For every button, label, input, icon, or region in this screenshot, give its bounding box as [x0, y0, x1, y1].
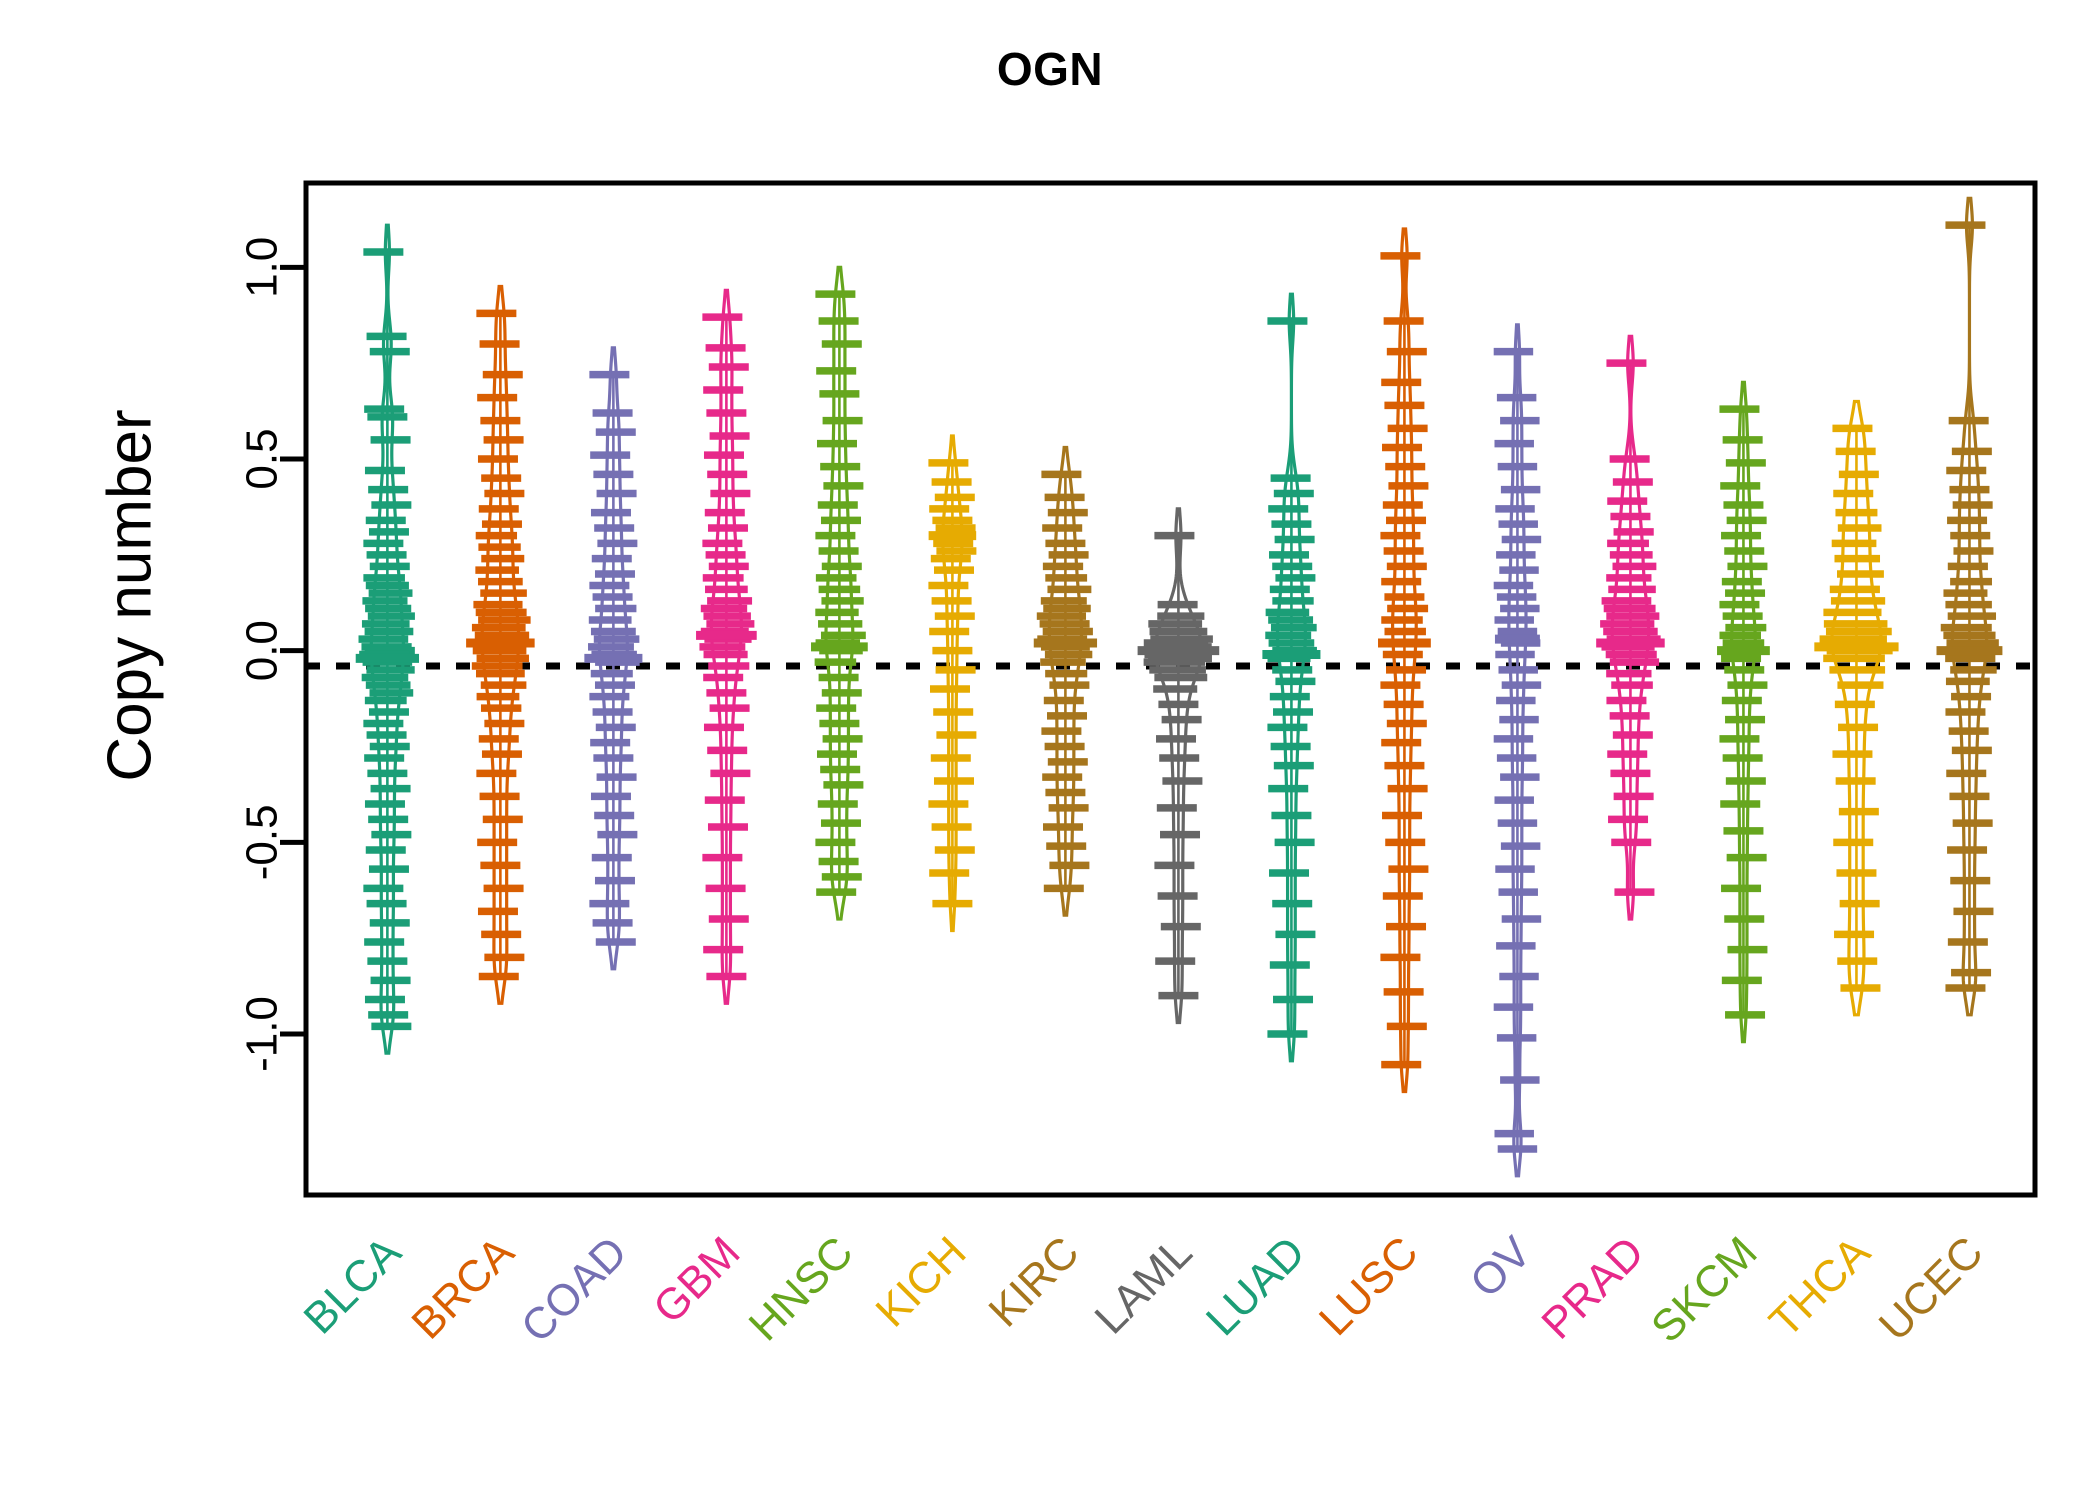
bean-group-COAD — [584, 348, 642, 969]
bean-group-LUAD — [1262, 294, 1320, 1061]
bean-group-OV — [1494, 325, 1541, 1176]
x-tick-label-PRAD: PRAD — [1532, 1227, 1653, 1348]
bean-group-HNSC — [811, 267, 868, 919]
y-tick-label: 0.0 — [238, 620, 287, 681]
bean-group-GBM — [696, 290, 757, 1003]
bean-group-BRCA — [466, 287, 535, 1004]
bean-group-UCEC — [1937, 198, 2003, 1015]
x-tick-label-LUSC: LUSC — [1310, 1227, 1428, 1345]
bean-group-SKCM — [1717, 382, 1770, 1041]
x-tick-label-COAD: COAD — [512, 1227, 637, 1352]
x-tick-label-GBM: GBM — [644, 1227, 750, 1333]
y-tick-label: 1.0 — [238, 237, 287, 298]
bean-group-LAML — [1138, 509, 1220, 1023]
x-tick-label-UCEC: UCEC — [1870, 1227, 1993, 1350]
chart-root: OGN Copy number 1.00.50.0-0.5-1.0 BLCABR… — [0, 0, 2100, 1500]
bean-group-PRAD — [1596, 336, 1665, 919]
beanplot-canvas: 1.00.50.0-0.5-1.0 BLCABRCACOADGBMHNSCKIC… — [0, 0, 2100, 1500]
x-tick-label-SKCM: SKCM — [1642, 1227, 1767, 1352]
x-tick-label-HNSC: HNSC — [740, 1227, 863, 1350]
bean-group-THCA — [1814, 402, 1898, 1015]
bean-group-LUSC — [1378, 229, 1431, 1092]
x-tick-label-BLCA: BLCA — [295, 1227, 411, 1343]
x-tick-label-BRCA: BRCA — [402, 1227, 524, 1349]
bean-group-KIRC — [1034, 448, 1097, 916]
y-tick-label: -1.0 — [238, 996, 287, 1072]
x-tick-label-LUAD: LUAD — [1197, 1227, 1315, 1345]
data-layer — [356, 198, 2003, 1175]
axis-layer: 1.00.50.0-0.5-1.0 — [238, 183, 2036, 1195]
bean-group-BLCA — [356, 225, 419, 1053]
x-tick-label-KIRC: KIRC — [980, 1227, 1089, 1336]
x-axis-labels: BLCABRCACOADGBMHNSCKICHKIRCLAMLLUADLUSCO… — [295, 1227, 1993, 1352]
bean-group-KICH — [928, 436, 976, 931]
y-tick-label: -0.5 — [238, 804, 287, 880]
x-tick-label-KICH: KICH — [867, 1227, 976, 1336]
x-tick-label-THCA: THCA — [1760, 1227, 1880, 1347]
x-tick-label-OV: OV — [1461, 1227, 1541, 1307]
x-tick-label-LAML: LAML — [1086, 1227, 1202, 1343]
y-tick-label: 0.5 — [238, 428, 287, 489]
